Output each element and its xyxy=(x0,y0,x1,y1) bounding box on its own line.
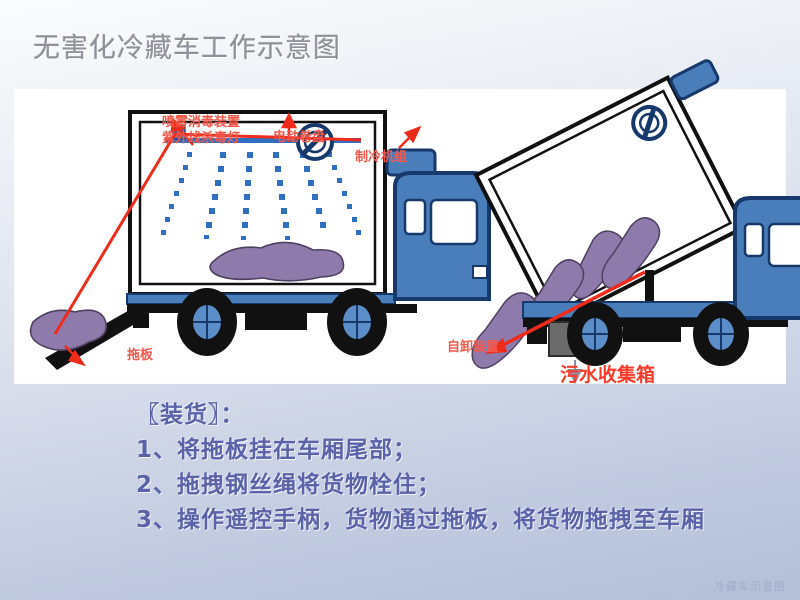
loading-steps: 〖装货〗： 1、将拖板挂在车厢尾部； 2、拖拽钢丝绳将货物栓住； 3、操作遥控手… xyxy=(136,398,796,538)
refrigeration-unit-icon xyxy=(669,59,719,100)
steps-heading: 〖装货〗： xyxy=(136,398,796,433)
step-item-3: 3、操作遥控手柄，货物通过拖板，将货物拖拽至车厢 xyxy=(136,503,796,538)
truck-wheel xyxy=(567,302,623,366)
page-title: 无害化冷藏车工作示意图 xyxy=(33,26,341,65)
watermark: 冷藏车示意图 xyxy=(714,578,786,594)
slide-canvas: 无害化冷藏车工作示意图 xyxy=(0,0,800,600)
label-dump-device: 自卸装置 xyxy=(447,340,499,356)
label-refrigeration-unit: 制冷机组 xyxy=(355,150,407,166)
label-spray-device-line1: 喷雾消毒装置 xyxy=(162,115,240,131)
step-item-1: 1、将拖板挂在车厢尾部； xyxy=(136,433,796,468)
step-item-2: 2、拖拽钢丝绳将货物栓住； xyxy=(136,468,796,503)
diagram-panel: 喷雾消毒装置 紫外线杀毒灯 电动卷盘 制冷机组 拖板 自卸装置 污水收集箱 xyxy=(15,90,785,383)
label-electric-reel: 电动卷盘 xyxy=(273,130,325,146)
label-uv-lamp-line2: 紫外线杀毒灯 xyxy=(162,131,240,147)
truck-wheel xyxy=(693,302,749,366)
label-sewage-collection-box: 污水收集箱 xyxy=(560,367,655,383)
right-truck-illustration xyxy=(15,90,785,383)
label-tow-plate: 拖板 xyxy=(127,348,153,364)
